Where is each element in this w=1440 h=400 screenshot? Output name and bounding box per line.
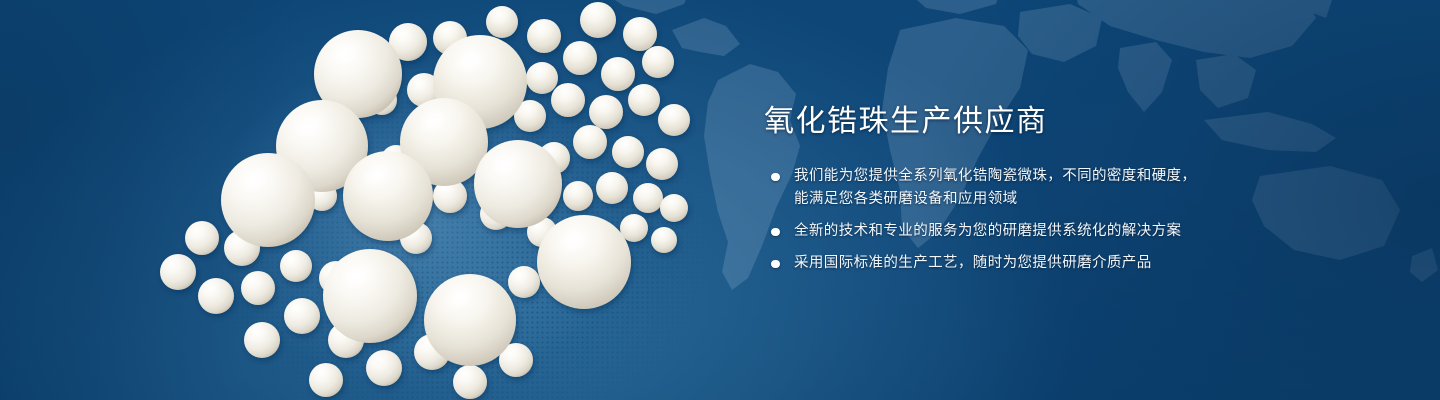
feature-bullet-list: 我们能为您提供全系列氧化锆陶瓷微珠，不同的密度和硬度， 能满足您各类研磨设备和应… <box>764 165 1234 275</box>
bullet-text-line1: 我们能为您提供全系列氧化锆陶瓷微珠，不同的密度和硬度， <box>794 168 1196 184</box>
list-item: 全新的技术和专业的服务为您的研磨提供系统化的解决方案 <box>764 220 1234 243</box>
page-title: 氧化锆珠生产供应商 <box>764 104 1234 139</box>
bullet-dot-icon <box>771 228 780 237</box>
list-item: 采用国际标准的生产工艺，随时为您提供研磨介质产品 <box>764 252 1234 275</box>
banner-text-block: 氧化锆珠生产供应商 我们能为您提供全系列氧化锆陶瓷微珠，不同的密度和硬度， 能满… <box>764 104 1234 275</box>
bullet-dot-icon <box>771 173 780 182</box>
bullet-dot-icon <box>771 260 780 269</box>
bullet-text-line2: 能满足您各类研磨设备和应用领域 <box>794 188 1234 211</box>
bullet-text-line1: 采用国际标准的生产工艺，随时为您提供研磨介质产品 <box>794 255 1152 271</box>
bullet-text-line1: 全新的技术和专业的服务为您的研磨提供系统化的解决方案 <box>794 223 1181 239</box>
hero-banner: 氧化锆珠生产供应商 我们能为您提供全系列氧化锆陶瓷微珠，不同的密度和硬度， 能满… <box>0 0 1440 400</box>
list-item: 我们能为您提供全系列氧化锆陶瓷微珠，不同的密度和硬度， 能满足您各类研磨设备和应… <box>764 165 1234 211</box>
